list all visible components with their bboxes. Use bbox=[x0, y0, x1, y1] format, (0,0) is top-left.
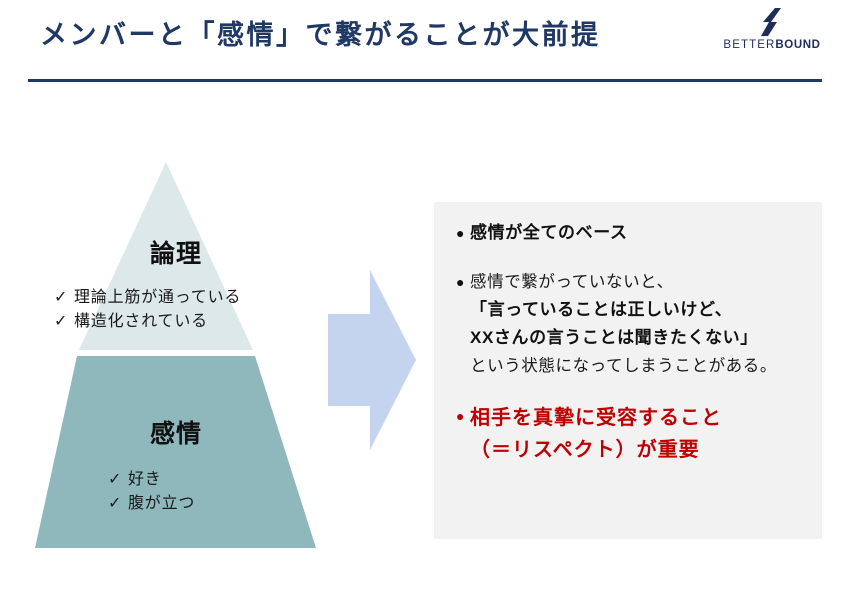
bullet-item: ● 感情で繋がっていないと、 「言っていることは正しいけど、 XXさんの言うこと… bbox=[456, 268, 777, 380]
list-item-label: 腹が立つ bbox=[128, 495, 195, 512]
bullet-item: ● 感情が全てのベース bbox=[456, 219, 628, 247]
logo-word-bound: BOUND bbox=[775, 39, 820, 51]
check-icon: ✓ bbox=[54, 286, 74, 310]
bullet-dot-icon: ● bbox=[456, 219, 470, 247]
pyramid-bottom-label: 感情 bbox=[30, 414, 322, 450]
title-divider bbox=[28, 79, 822, 82]
bullet-line: XXさんの言うことは聞きたくない」 bbox=[470, 324, 777, 352]
check-icon: ✓ bbox=[54, 310, 74, 334]
brand-logo: BETTERBOUND bbox=[718, 8, 826, 60]
list-item-label: 理論上筋が通っている bbox=[74, 289, 241, 306]
bullet-line: 相手を真摯に受容すること bbox=[470, 402, 722, 434]
page-title: メンバーと「感情」で繋がることが大前提 bbox=[40, 19, 601, 53]
bullet-line: という状態になってしまうことがある。 bbox=[470, 352, 777, 380]
bolt-mark-icon bbox=[759, 8, 785, 36]
bullet-line: 「言っていることは正しいけど、 bbox=[470, 296, 777, 324]
logo-word-better: BETTER bbox=[723, 39, 775, 51]
list-item: ✓好き bbox=[108, 468, 195, 492]
list-item: ✓構造化されている bbox=[54, 310, 241, 334]
pyramid-bottom-shape bbox=[35, 356, 316, 548]
pyramid-top-label: 論理 bbox=[30, 234, 322, 270]
logo-wordmark: BETTERBOUND bbox=[723, 40, 820, 52]
right-arrow-icon bbox=[328, 270, 416, 450]
bullet-dot-icon: ● bbox=[456, 268, 470, 296]
pyramid-top-list: ✓理論上筋が通っている ✓構造化されている bbox=[54, 286, 241, 334]
bullet-item-highlight: ● 相手を真摯に受容すること （＝リスペクト）が重要 bbox=[456, 402, 722, 466]
check-icon: ✓ bbox=[108, 468, 128, 492]
slide-canvas: メンバーと「感情」で繋がることが大前提 BETTERBOUND 論理 ✓理論上筋… bbox=[0, 0, 850, 594]
bullet-line: （＝リスペクト）が重要 bbox=[470, 434, 722, 466]
list-item-label: 構造化されている bbox=[74, 313, 208, 330]
bullet-text: 相手を真摯に受容すること （＝リスペクト）が重要 bbox=[470, 402, 722, 466]
notes-panel: ● 感情が全てのベース ● 感情で繋がっていないと、 「言っていることは正しいけ… bbox=[434, 202, 822, 539]
check-icon: ✓ bbox=[108, 492, 128, 516]
list-item: ✓理論上筋が通っている bbox=[54, 286, 241, 310]
bullet-text: 感情が全てのベース bbox=[470, 219, 628, 247]
list-item: ✓腹が立つ bbox=[108, 492, 195, 516]
bullet-text: 感情で繋がっていないと、 「言っていることは正しいけど、 XXさんの言うことは聞… bbox=[470, 268, 777, 380]
pyramid-diagram: 論理 ✓理論上筋が通っている ✓構造化されている 感情 ✓好き ✓腹が立つ bbox=[30, 158, 322, 552]
bullet-dot-icon: ● bbox=[456, 402, 470, 430]
list-item-label: 好き bbox=[128, 471, 162, 488]
pyramid-bottom-list: ✓好き ✓腹が立つ bbox=[108, 468, 195, 516]
bullet-line: 感情が全てのベース bbox=[470, 219, 628, 247]
bullet-line: 感情で繋がっていないと、 bbox=[470, 268, 777, 296]
